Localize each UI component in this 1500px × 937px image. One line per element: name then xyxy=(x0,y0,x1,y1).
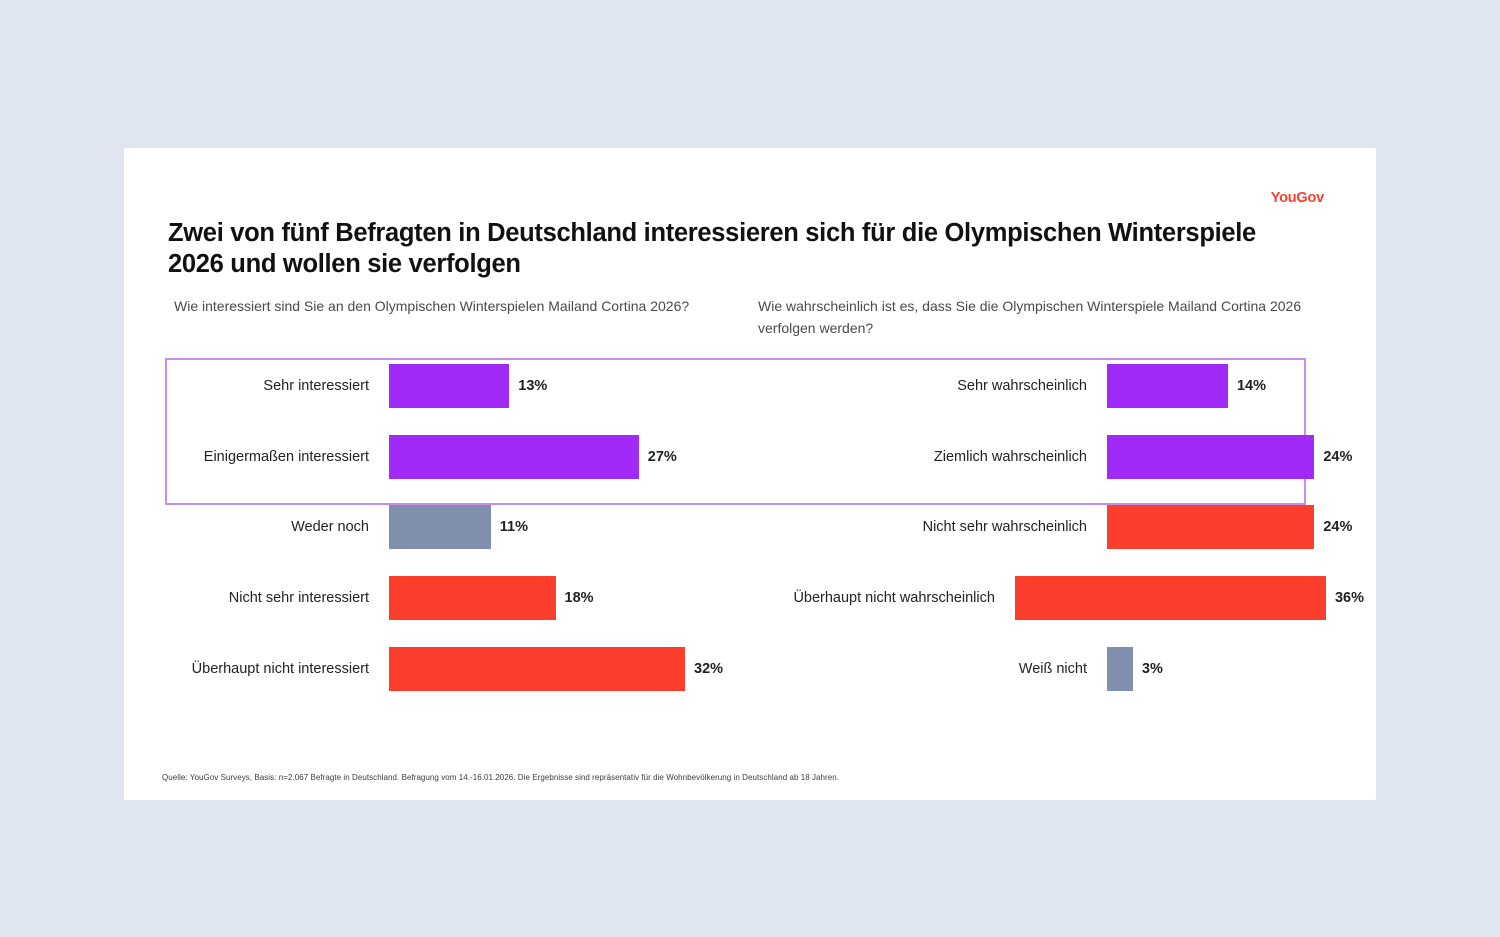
bar-category-label: Einigermaßen interessiert xyxy=(124,449,389,465)
bar xyxy=(389,576,556,620)
yougov-logo: YouGov xyxy=(1271,190,1324,206)
bar-row: Einigermaßen interessiert27% xyxy=(124,435,744,479)
bar-value-label: 24% xyxy=(1314,449,1352,465)
bar-and-value: 27% xyxy=(389,435,677,479)
bar xyxy=(389,505,491,549)
bar-category-label: Nicht sehr interessiert xyxy=(124,590,389,606)
bar-value-label: 13% xyxy=(509,378,547,394)
bar-and-value: 13% xyxy=(389,364,547,408)
bar-row: Ziemlich wahrscheinlich24% xyxy=(724,435,1364,479)
bar-and-value: 18% xyxy=(389,576,594,620)
bar-row: Nicht sehr wahrscheinlich24% xyxy=(724,505,1364,549)
bar-row: Sehr wahrscheinlich14% xyxy=(724,364,1364,408)
question-label-left: Wie interessiert sind Sie an den Olympis… xyxy=(174,295,734,317)
bar-category-label: Nicht sehr wahrscheinlich xyxy=(724,519,1107,535)
bar-row: Sehr interessiert13% xyxy=(124,364,744,408)
bar-row: Überhaupt nicht interessiert32% xyxy=(124,647,744,691)
bar-value-label: 3% xyxy=(1133,661,1163,677)
infographic-card: YouGov Zwei von fünf Befragten in Deutsc… xyxy=(124,148,1376,800)
bar-value-label: 18% xyxy=(556,590,594,606)
bar xyxy=(1107,435,1314,479)
bar-value-label: 14% xyxy=(1228,378,1266,394)
bar-row: Überhaupt nicht wahrscheinlich36% xyxy=(724,576,1364,620)
bar-category-label: Überhaupt nicht interessiert xyxy=(124,661,389,677)
bar-and-value: 14% xyxy=(1107,364,1266,408)
bar-category-label: Sehr interessiert xyxy=(124,378,389,394)
bar-category-label: Sehr wahrscheinlich xyxy=(724,378,1107,394)
bar-value-label: 11% xyxy=(491,519,528,535)
bar xyxy=(1015,576,1326,620)
bar-category-label: Weder noch xyxy=(124,519,389,535)
source-footnote: Quelle: YouGov Surveys, Basis: n=2.067 B… xyxy=(162,773,839,782)
bar-and-value: 36% xyxy=(1015,576,1364,620)
bar xyxy=(1107,647,1133,691)
bar xyxy=(389,364,509,408)
bar-row: Weder noch11% xyxy=(124,505,744,549)
page-background: YouGov Zwei von fünf Befragten in Deutsc… xyxy=(0,0,1500,937)
bar-and-value: 3% xyxy=(1107,647,1163,691)
bar-value-label: 24% xyxy=(1314,519,1352,535)
bar xyxy=(389,435,639,479)
bar-category-label: Weiß nicht xyxy=(724,661,1107,677)
bar-row: Weiß nicht3% xyxy=(724,647,1364,691)
bar-and-value: 24% xyxy=(1107,505,1352,549)
bar-value-label: 27% xyxy=(639,449,677,465)
bar-and-value: 11% xyxy=(389,505,528,549)
bar-category-label: Ziemlich wahrscheinlich xyxy=(724,449,1107,465)
bar xyxy=(1107,505,1314,549)
bar-value-label: 32% xyxy=(685,661,723,677)
bar-row: Nicht sehr interessiert18% xyxy=(124,576,744,620)
bar-value-label: 36% xyxy=(1326,590,1364,606)
bar-and-value: 32% xyxy=(389,647,723,691)
page-title: Zwei von fünf Befragten in Deutschland i… xyxy=(168,218,1278,280)
question-label-right: Wie wahrscheinlich ist es, dass Sie die … xyxy=(758,295,1318,339)
bar xyxy=(1107,364,1228,408)
bar-category-label: Überhaupt nicht wahrscheinlich xyxy=(724,590,1015,606)
bar xyxy=(389,647,685,691)
bar-and-value: 24% xyxy=(1107,435,1352,479)
